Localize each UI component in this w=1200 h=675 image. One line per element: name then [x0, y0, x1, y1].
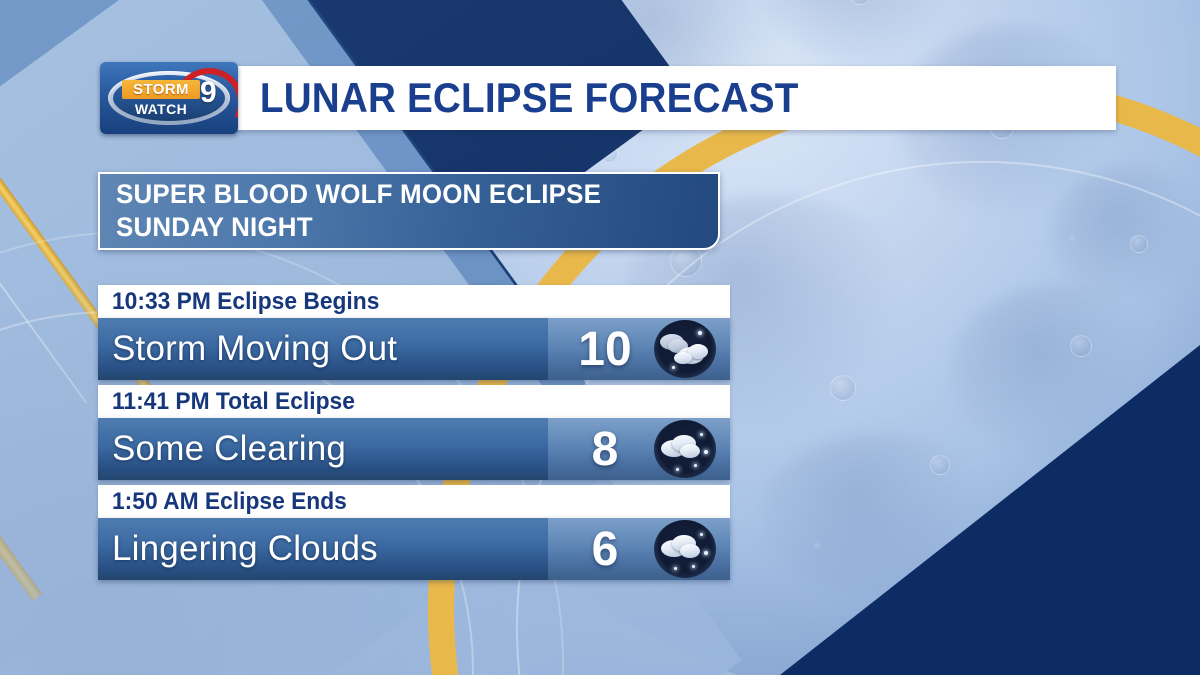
title-bar: LUNAR ECLIPSE FORECAST: [236, 66, 1116, 130]
forecast-row-body: Some Clearing 8: [98, 418, 730, 480]
partly-cloudy-night-icon: [654, 520, 716, 578]
forecast-row: 10:33 PM Eclipse Begins Storm Moving Out…: [98, 285, 730, 380]
forecast-row: 11:41 PM Total Eclipse Some Clearing 8: [98, 385, 730, 480]
forecast-time-label: 10:33 PM Eclipse Begins: [112, 288, 379, 316]
logo-channel-number: 9: [200, 78, 217, 108]
forecast-row-body: Lingering Clouds 6: [98, 518, 730, 580]
forecast-value: 8: [560, 418, 650, 480]
logo-storm-text: STORM: [122, 80, 200, 99]
stormwatch-9-logo: STORM WATCH 9: [100, 62, 238, 134]
page-title: LUNAR ECLIPSE FORECAST: [236, 74, 799, 122]
forecast-time-label: 11:41 PM Total Eclipse: [112, 388, 355, 416]
subtitle-banner: SUPER BLOOD WOLF MOON ECLIPSE SUNDAY NIG…: [98, 172, 720, 250]
weather-graphic-stage: LUNAR ECLIPSE FORECAST STORM WATCH 9 SUP…: [0, 0, 1200, 675]
forecast-row: 1:50 AM Eclipse Ends Lingering Clouds 6: [98, 485, 730, 580]
forecast-condition-label: Lingering Clouds: [112, 518, 378, 580]
mostly-cloudy-night-icon: [654, 320, 716, 378]
subtitle-line-1: SUPER BLOOD WOLF MOON ECLIPSE: [116, 178, 694, 211]
forecast-row-body: Storm Moving Out 10: [98, 318, 730, 380]
logo-watch-text: WATCH: [122, 100, 200, 118]
forecast-value: 6: [560, 518, 650, 580]
forecast-condition-label: Storm Moving Out: [112, 318, 397, 380]
subtitle-line-2: SUNDAY NIGHT: [116, 211, 694, 244]
forecast-row-header: 11:41 PM Total Eclipse: [98, 385, 730, 418]
partly-cloudy-night-icon: [654, 420, 716, 478]
forecast-row-header: 1:50 AM Eclipse Ends: [98, 485, 730, 518]
forecast-condition-label: Some Clearing: [112, 418, 346, 480]
forecast-value: 10: [560, 318, 650, 380]
forecast-time-label: 1:50 AM Eclipse Ends: [112, 488, 347, 516]
forecast-row-header: 10:33 PM Eclipse Begins: [98, 285, 730, 318]
